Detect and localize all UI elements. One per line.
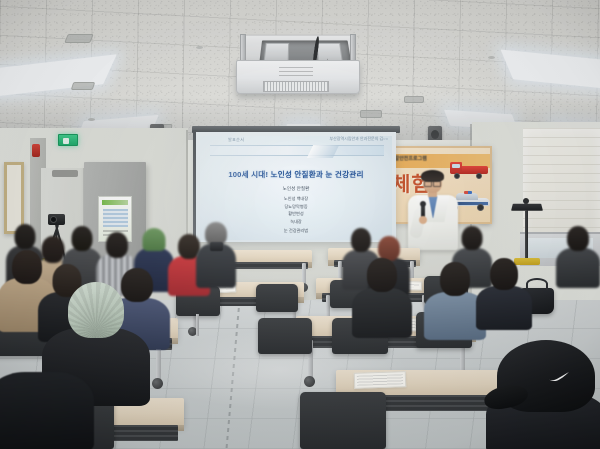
emergency-exit-sign	[58, 134, 78, 146]
slide-title: 100세 시대! 노인성 안질환과 눈 건강관리	[200, 169, 392, 180]
ceiling-vent	[64, 34, 94, 43]
audience-member	[556, 226, 600, 284]
person-head	[72, 226, 93, 251]
presenter-hand	[419, 216, 427, 224]
poster-table-block	[103, 209, 128, 227]
person-torso	[476, 286, 532, 330]
smoke-detector-icon	[488, 56, 495, 59]
person-head	[462, 226, 483, 250]
projector-body	[236, 60, 360, 94]
projector-vent-grille	[263, 81, 329, 92]
chair-leg	[196, 314, 199, 336]
person-torso	[0, 372, 94, 449]
person-head	[440, 262, 470, 296]
audience-member	[0, 364, 94, 449]
door-closer	[52, 170, 78, 177]
handout-paper	[354, 371, 407, 389]
slide-bullet-item: 당뇨망막병증	[200, 203, 392, 211]
beanie-hat	[68, 282, 124, 338]
seminar-room-photo: 생활안전프로그램 체험 발표순서 부산광역시립안과 안과전문의 김○○ 100세…	[0, 0, 600, 449]
slide-subtitle: 노인성 안질환	[200, 186, 392, 192]
slide-header-right-text: 부산광역시립안과 안과전문의 김○○	[329, 136, 388, 141]
nike-swoosh-icon	[548, 372, 570, 381]
person-head	[367, 258, 397, 292]
person-torso	[352, 288, 412, 338]
smoke-detector-icon	[196, 46, 203, 49]
glasses-icon	[424, 180, 441, 184]
poster-header-band	[102, 200, 128, 205]
slide-bullet-list: 노인성 백내장 당뇨망막병증 황반변성 녹내장	[200, 195, 392, 225]
person-hat	[143, 228, 166, 251]
smartphone-icon	[210, 242, 223, 251]
smartphone-held	[206, 236, 236, 266]
audience-member	[476, 258, 532, 320]
ceiling-projector	[236, 32, 360, 104]
fire-truck-window	[452, 164, 460, 168]
chair	[258, 318, 312, 354]
beanie-knit-texture	[68, 282, 124, 338]
person-head	[490, 258, 518, 290]
projector-label	[279, 67, 313, 76]
person-torso	[556, 248, 600, 288]
camera-lens-icon	[50, 216, 57, 223]
slide-bullet-item: 황반변성	[200, 210, 392, 218]
table-caster	[152, 378, 163, 389]
police-car-lightbar	[464, 191, 472, 194]
lecture-stand	[512, 202, 542, 264]
paper-text-lines	[357, 374, 403, 386]
chair	[256, 284, 298, 312]
slide-bullet-item: 노인성 백내장	[200, 195, 392, 203]
audience-member-cap	[486, 340, 600, 449]
person-head	[567, 226, 589, 251]
audience-member	[352, 258, 412, 334]
police-car-wheel	[477, 204, 484, 211]
stand-pole	[525, 210, 528, 260]
slide-header-band	[210, 145, 384, 156]
chair	[300, 392, 386, 449]
fire-alarm-box	[32, 144, 40, 157]
slide-header-left-text: 발표순서	[228, 137, 244, 143]
table-caster	[304, 376, 315, 387]
video-camera-icon	[48, 214, 65, 225]
fire-truck-wheel	[476, 173, 482, 179]
ceiling-vent	[71, 82, 96, 90]
person-head	[106, 232, 128, 258]
